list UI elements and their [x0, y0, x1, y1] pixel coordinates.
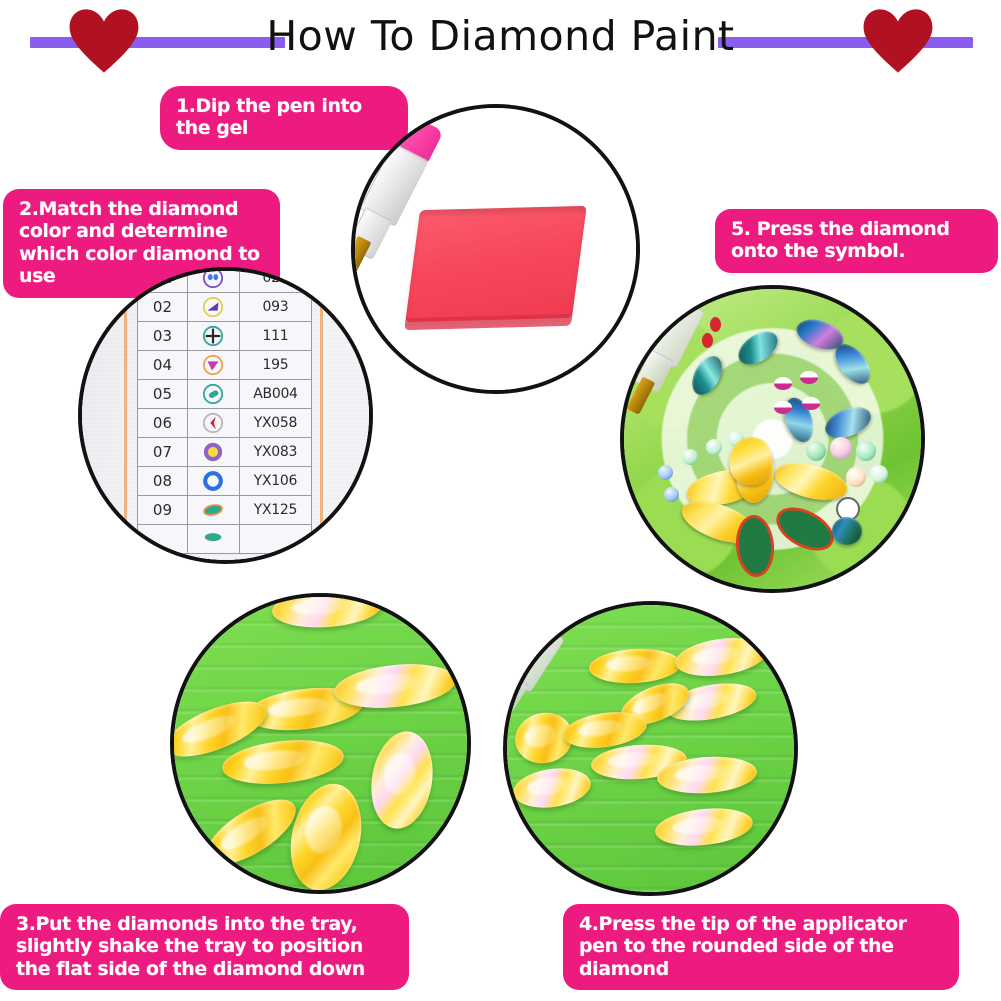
plus-icon	[202, 325, 224, 347]
row-symbol	[187, 380, 239, 409]
tray-diamond	[220, 735, 346, 790]
step-5-badge: 5. Press the diamond onto the symbol.	[715, 209, 998, 273]
step-3-badge: 3.Put the diamonds into the tray, slight…	[0, 904, 409, 990]
table-row: 02 093	[138, 293, 312, 322]
table-row: 05 AB004	[138, 380, 312, 409]
canvas-gem	[686, 351, 728, 400]
gel-pad	[405, 206, 586, 322]
tray-diamond	[673, 633, 769, 681]
tray-diamond	[511, 764, 594, 812]
canvas-mini-gem	[658, 465, 673, 480]
tray-diamond	[365, 727, 440, 833]
canvas-gem	[832, 517, 862, 545]
color-legend-table: 01 028 02 093 03 111 04	[137, 267, 312, 554]
applicator-pen	[620, 294, 706, 426]
canvas-mini-gem	[664, 487, 679, 502]
canvas-mini-gem	[806, 441, 826, 461]
infographic-page: How To Diamond Paint 1.Dip the pen into …	[0, 0, 1001, 1001]
table-row: 09 YX125	[138, 496, 312, 525]
printed-symbol	[774, 377, 792, 390]
row-code: YX106	[239, 467, 311, 496]
canvas-gem	[732, 325, 783, 371]
row-code: YX058	[239, 409, 311, 438]
row-code: 195	[239, 351, 311, 380]
table-row	[138, 525, 312, 554]
tray-diamond	[281, 777, 372, 894]
row-number: 06	[138, 409, 188, 438]
printed-symbol	[774, 401, 792, 414]
chart-scene: 01 028 02 093 03 111 04	[82, 271, 369, 560]
table-row: 07 YX083	[138, 438, 312, 467]
printed-symbol-petal	[734, 514, 776, 578]
photo-diamonds-in-tray	[170, 593, 471, 894]
printed-symbol-petal	[769, 499, 841, 560]
leaf-icon	[202, 499, 224, 521]
table-row: 04 195	[138, 351, 312, 380]
triangle-icon	[202, 354, 224, 376]
page-title: How To Diamond Paint	[0, 12, 1001, 60]
printed-symbol	[800, 371, 818, 384]
canvas-mini-gem	[846, 467, 866, 487]
row-code: 093	[239, 293, 311, 322]
row-symbol	[187, 467, 239, 496]
printed-symbol	[710, 317, 721, 332]
row-code: YX083	[239, 438, 311, 467]
row-symbol	[187, 351, 239, 380]
pen-tip	[626, 376, 655, 414]
chart-edge-left	[124, 271, 127, 560]
placed-yellow-gem	[771, 457, 851, 507]
tray-scene	[507, 605, 794, 892]
printed-symbol	[702, 333, 713, 348]
row-symbol	[187, 496, 239, 525]
canvas-mini-gem	[870, 465, 888, 483]
table-row: 01 028	[138, 267, 312, 293]
tray-diamond	[588, 647, 682, 686]
row-code	[239, 525, 311, 554]
canvas-mini-gem	[830, 437, 852, 459]
capsule-icon	[202, 383, 224, 405]
chevron-icon	[202, 412, 224, 434]
row-number	[138, 525, 188, 554]
row-number: 03	[138, 322, 188, 351]
page-header: How To Diamond Paint	[0, 0, 1001, 78]
ring-icon	[202, 470, 224, 492]
row-code: 028	[239, 267, 311, 293]
row-code: AB004	[239, 380, 311, 409]
row-number: 01	[138, 267, 188, 293]
row-symbol	[187, 438, 239, 467]
row-code: YX125	[239, 496, 311, 525]
photo-pen-in-gel	[351, 104, 640, 394]
canvas-mini-gem	[706, 439, 722, 455]
row-number: 08	[138, 467, 188, 496]
leaf-icon	[202, 528, 224, 550]
tray-scene	[174, 597, 467, 890]
canvas-mini-gem	[682, 449, 698, 465]
chart-edge-right	[320, 271, 323, 560]
canvas-scene	[624, 289, 921, 589]
row-symbol	[187, 525, 239, 554]
table-row: 03 111	[138, 322, 312, 351]
gel-scene	[355, 108, 636, 390]
tray-diamond	[653, 804, 754, 850]
tray-diamond	[271, 593, 383, 631]
canvas-mini-gem	[856, 441, 876, 461]
row-symbol	[187, 322, 239, 351]
triangle-icon	[202, 296, 224, 318]
row-number: 05	[138, 380, 188, 409]
table-row: 06 YX058	[138, 409, 312, 438]
row-symbol	[187, 293, 239, 322]
photo-pen-picking-diamond	[503, 601, 798, 896]
step-4-badge: 4.Press the tip of the applicator pen to…	[563, 904, 959, 990]
row-number: 07	[138, 438, 188, 467]
canvas-gem	[821, 401, 876, 444]
row-number: 09	[138, 496, 188, 525]
printed-symbol	[802, 397, 820, 410]
photo-color-chart: 01 028 02 093 03 111 04	[78, 267, 373, 564]
row-number: 04	[138, 351, 188, 380]
row-symbol	[187, 267, 239, 293]
photo-diamond-on-canvas	[620, 285, 925, 593]
row-number: 02	[138, 293, 188, 322]
row-symbol	[187, 409, 239, 438]
row-code: 111	[239, 322, 311, 351]
donut-icon	[202, 441, 224, 463]
table-row: 08 YX106	[138, 467, 312, 496]
tray-diamond	[197, 787, 306, 877]
eyes-icon	[202, 267, 224, 289]
